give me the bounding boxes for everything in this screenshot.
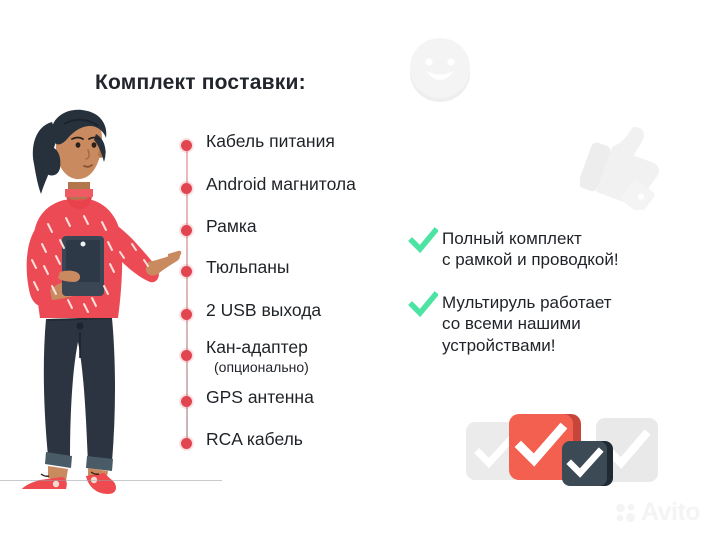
list-item: RCA кабель [206, 429, 303, 449]
list-item-note: (опционально) [214, 359, 309, 375]
list-bullet [181, 438, 192, 449]
list-bullet [181, 309, 192, 320]
feature-item: Мультируль работает со всеми нашими устр… [408, 292, 612, 356]
feature-item: Полный комплект с рамкой и проводкой! [408, 228, 619, 271]
list-bullet [181, 183, 192, 194]
list-bullet [181, 266, 192, 277]
avito-wordmark: Avito [641, 500, 700, 525]
list-bullet [181, 396, 192, 407]
list-bullet [181, 225, 192, 236]
woman-with-tablet-pointing-illustration [8, 104, 183, 494]
avito-logo-icon [615, 503, 637, 523]
list-item: Android магнитола [206, 174, 356, 194]
green-check-icon [408, 226, 438, 256]
list-bullet [181, 140, 192, 151]
green-check-icon [408, 290, 438, 320]
checkbox-cards-group [463, 408, 653, 486]
list-item: Тюльпаны [206, 257, 289, 277]
list-item: Кан-адаптер [206, 337, 308, 357]
ground-line [0, 480, 222, 481]
page-title: Комплект поставки: [95, 71, 306, 95]
checkbox-card-dark [562, 441, 607, 486]
avito-watermark: Avito [615, 500, 700, 525]
list-item: 2 USB выхода [206, 300, 321, 320]
list-item: GPS антенна [206, 387, 314, 407]
smiley-face-icon [405, 35, 475, 105]
poster-canvas: Комплект поставки: [0, 0, 720, 540]
list-item: Рамка [206, 216, 257, 236]
list-item: Кабель питания [206, 131, 335, 151]
list-bullet [181, 350, 192, 361]
feature-text: Мультируль работает со всеми нашими устр… [442, 292, 612, 356]
feature-text: Полный комплект с рамкой и проводкой! [442, 228, 619, 271]
thumbs-up-icon [580, 115, 670, 210]
